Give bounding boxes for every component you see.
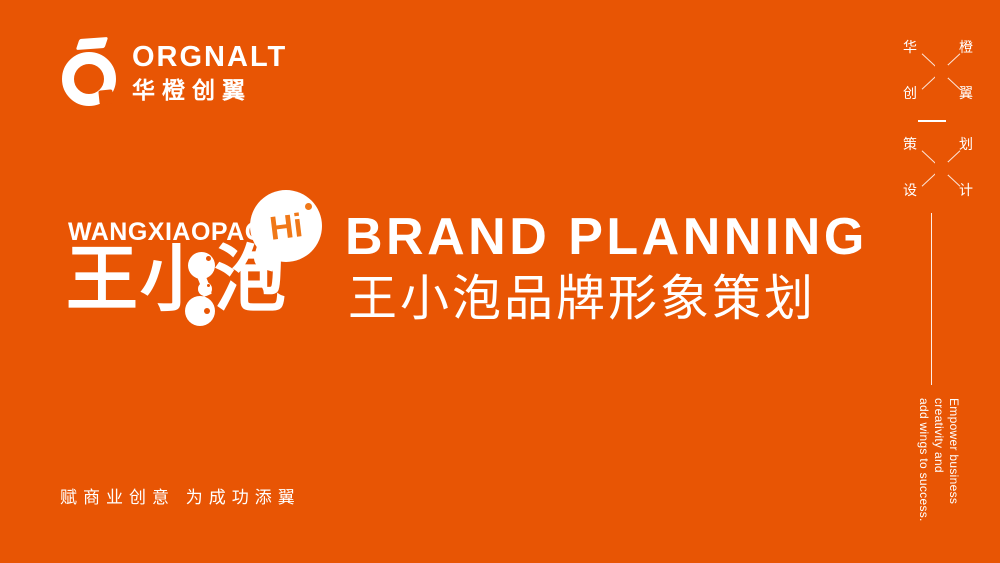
logo-leaf-shape bbox=[76, 37, 108, 50]
vertical-text-line-3: add wings to success. bbox=[918, 398, 930, 522]
hi-bubble-dot bbox=[305, 203, 312, 210]
vertical-text-line-2: creativity and bbox=[933, 398, 945, 473]
bubble-decoration-small bbox=[198, 282, 212, 296]
logo-ring-notch bbox=[98, 89, 113, 104]
sidebar-vertical-divider bbox=[931, 213, 932, 385]
sidebar-character-grid-two: 策 划 设 计 bbox=[894, 133, 990, 203]
bubble-decoration-large bbox=[188, 252, 215, 279]
vertical-text-line-1: Empower business bbox=[948, 398, 960, 504]
grid-two-cross-lines bbox=[915, 143, 967, 193]
presentation-cover-slide: ORGNALT 华橙创翼 WANGXIAOPAO 王小泡 Hi BRAND PL… bbox=[0, 0, 1000, 563]
corporate-latin-name: ORGNALT bbox=[132, 43, 287, 72]
bubble-decoration-medium bbox=[185, 296, 215, 326]
sidebar-character-grid-one: 华 橙 创 翼 bbox=[894, 36, 990, 106]
orgnalt-o-mark-icon bbox=[62, 38, 118, 106]
hi-speech-bubble-icon: Hi bbox=[250, 190, 322, 262]
corporate-logo: ORGNALT 华橙创翼 bbox=[62, 38, 287, 106]
page-title-chinese: 王小泡品牌形象策划 bbox=[348, 275, 816, 324]
tagline: 赋商业创意 为成功添翼 bbox=[60, 489, 301, 506]
corporate-wordmark: ORGNALT 华橙创翼 bbox=[132, 43, 287, 102]
sidebar-vertical-english-text: Empower business creativity and add wing… bbox=[894, 398, 990, 548]
page-title-english: BRAND PLANNING bbox=[345, 211, 868, 263]
sidebar-horizontal-divider bbox=[918, 120, 946, 122]
right-sidebar: 华 橙 创 翼 策 划 设 计 Empower business creativ… bbox=[880, 0, 1000, 563]
hi-bubble-label: Hi bbox=[246, 186, 326, 266]
grid-one-cross-lines bbox=[915, 46, 967, 96]
corporate-chinese-name: 华橙创翼 bbox=[132, 79, 287, 102]
